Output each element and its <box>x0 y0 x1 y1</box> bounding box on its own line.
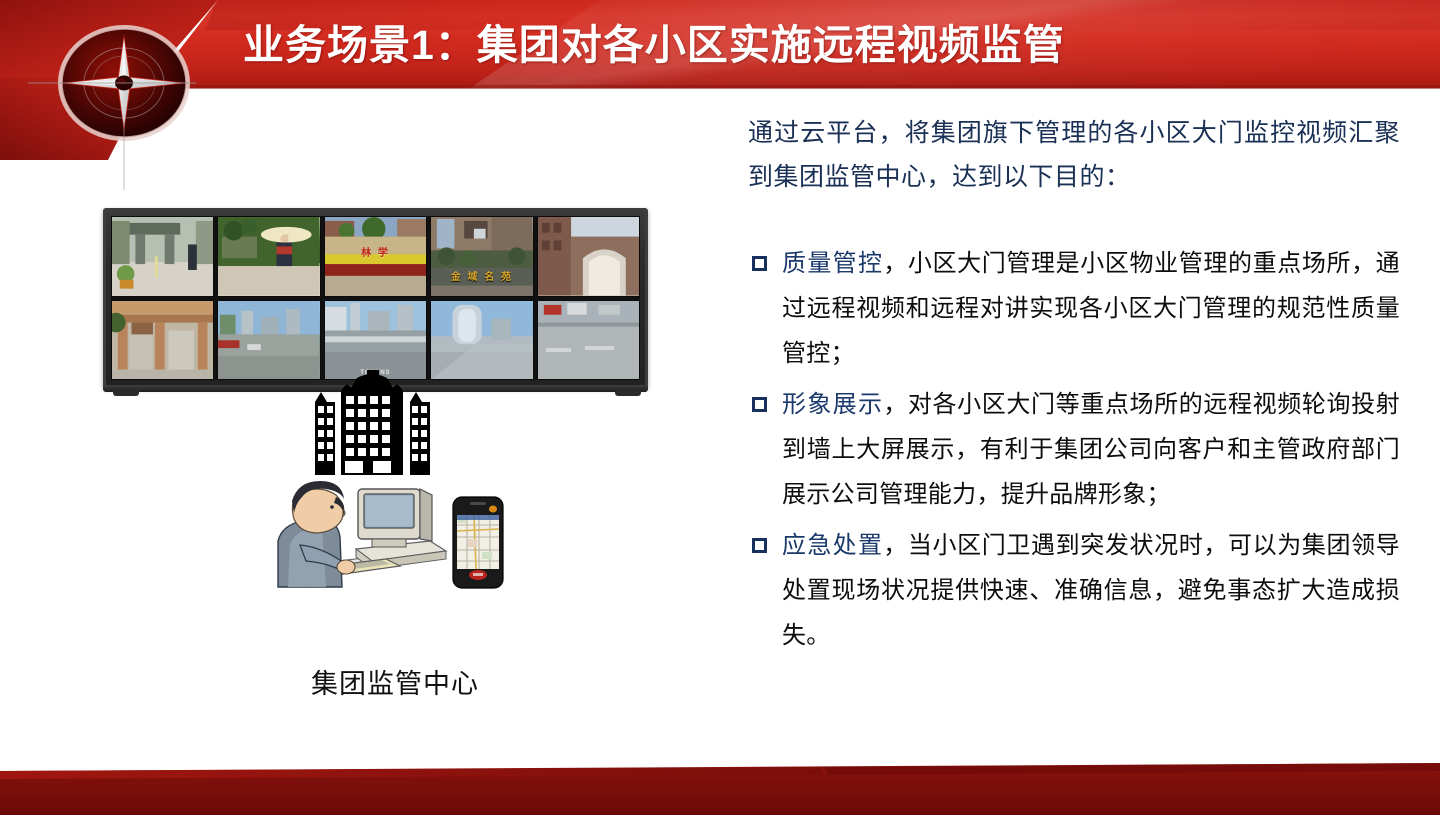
square-bullet-icon <box>752 538 767 553</box>
panel-overlay-text: 林 学 <box>325 244 426 259</box>
panel-overlay-text: 金 域 名 苑 <box>431 268 532 283</box>
video-panel-2 <box>217 216 320 297</box>
video-panel-9 <box>430 300 533 381</box>
content-column: 通过云平台，将集团旗下管理的各小区大门监控视频汇聚到集团监管中心，达到以下目的：… <box>748 112 1400 665</box>
list-item: 应急处置，当小区门卫遇到突发状况时，可以为集团领导处置现场状况提供快速、准确信息… <box>748 524 1400 659</box>
video-panel-4: 金 域 名 苑 <box>430 216 533 297</box>
slide-root: 业务场景1：集团对各小区实施远程视频监管 <box>0 0 1440 815</box>
video-panel-6 <box>111 300 214 381</box>
square-bullet-icon <box>752 256 767 271</box>
smartphone-map-icon <box>450 495 506 590</box>
bullet-list: 质量管控，小区大门管理是小区物业管理的重点场所，通过远程视频和远程对讲实现各小区… <box>748 242 1400 659</box>
video-panel-10 <box>537 300 640 381</box>
illustration-caption: 集团监管中心 <box>195 662 595 701</box>
square-bullet-icon <box>752 397 767 412</box>
intro-paragraph: 通过云平台，将集团旗下管理的各小区大门监控视频汇聚到集团监管中心，达到以下目的： <box>748 112 1400 200</box>
list-item: 质量管控，小区大门管理是小区物业管理的重点场所，通过远程视频和远程对讲实现各小区… <box>748 242 1400 377</box>
video-panel-1 <box>111 216 214 297</box>
footer-band <box>0 757 1440 815</box>
video-panel-5 <box>537 216 640 297</box>
video-panel-8: TOYANS <box>324 300 427 381</box>
bullet-keyword: 形象展示 <box>782 392 883 418</box>
compass-rose-icon <box>58 25 190 141</box>
illustration-column: 林 学 金 域 <box>95 200 695 720</box>
office-buildings-icon <box>305 370 440 485</box>
bullet-keyword: 应急处置 <box>782 533 883 559</box>
video-wall-foot-left <box>113 390 139 396</box>
video-wall: 林 学 金 域 <box>103 208 648 388</box>
video-wall-foot-right <box>615 390 641 396</box>
page-title: 业务场景1：集团对各小区实施远程视频监管 <box>243 16 1243 76</box>
bullet-keyword: 质量管控 <box>782 251 883 277</box>
video-panel-3: 林 学 <box>324 216 427 297</box>
video-panel-7 <box>217 300 320 381</box>
list-item: 形象展示，对各小区大门等重点场所的远程视频轮询投射到墙上大屏展示，有利于集团公司… <box>748 383 1400 518</box>
